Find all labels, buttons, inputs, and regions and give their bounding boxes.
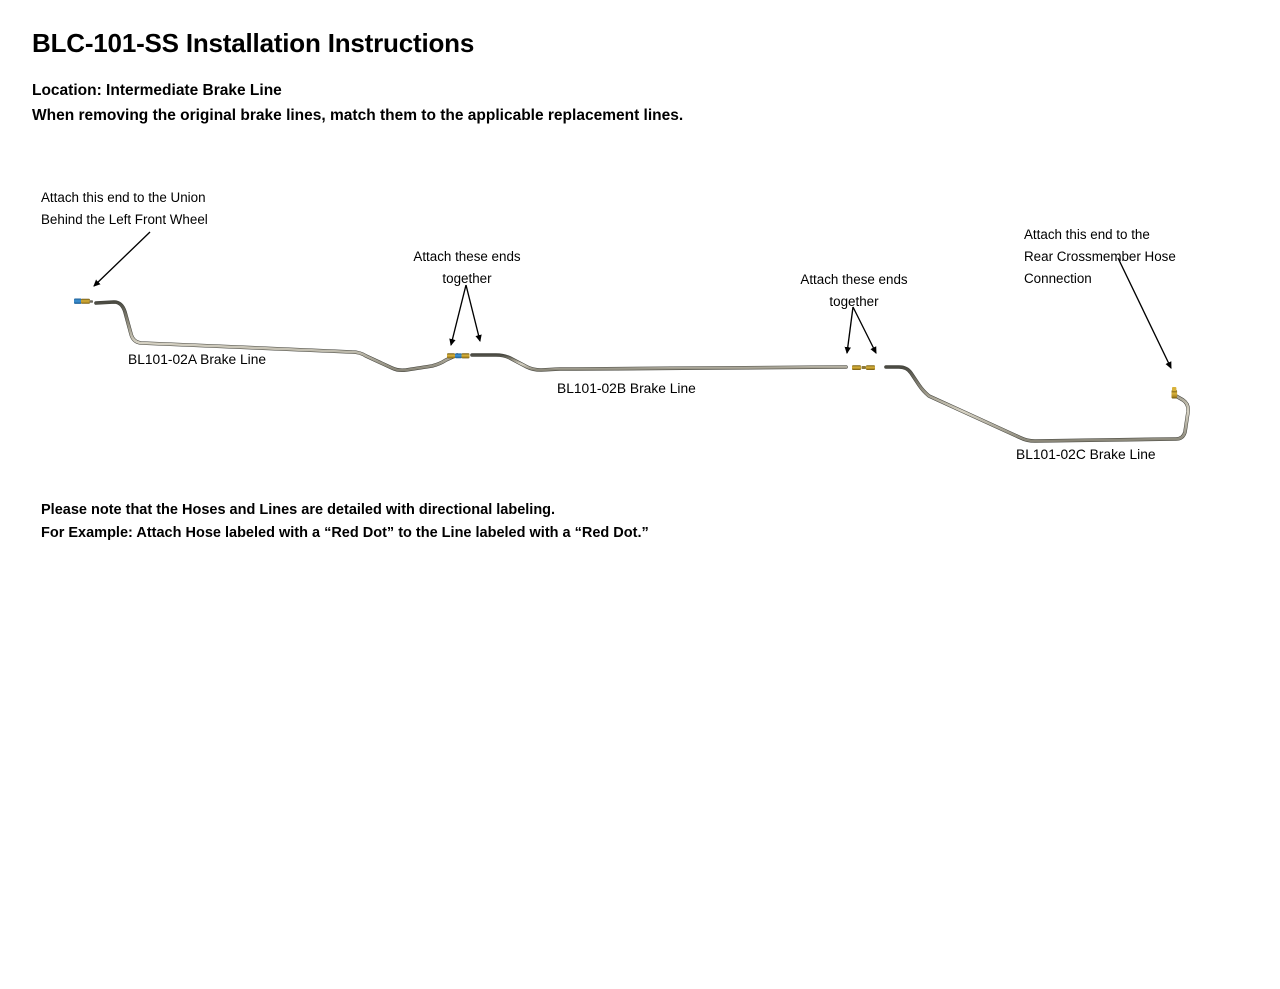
- annotation-left-union-line-1: Attach this end to the Union: [41, 190, 206, 205]
- center-join-fitting-blue: [455, 353, 462, 358]
- center-join-fitting-right: [462, 353, 470, 358]
- note-red-dot-example: For Example: Attach Hose labeled with a …: [41, 525, 649, 541]
- annotation-rear-join-line-1: Attach these ends: [800, 272, 908, 287]
- annotation-labels: Attach this end to the Union Behind the …: [41, 190, 1176, 309]
- annotation-center-join-line-1: Attach these ends: [413, 249, 521, 264]
- part-label-bl101-02a: BL101-02A Brake Line: [128, 352, 266, 367]
- arrow-center-join-left: [451, 285, 466, 345]
- brake-line-c-tube: [886, 367, 1188, 441]
- rear-join-fitting-right: [866, 365, 875, 370]
- note-directional-labeling: Please note that the Hoses and Lines are…: [41, 502, 555, 518]
- annotation-left-union-line-2: Behind the Left Front Wheel: [41, 212, 208, 227]
- tube-c-shadow: [886, 367, 1188, 441]
- rear-crossmember-fitting: [1172, 387, 1178, 399]
- brake-line-tubes: [96, 302, 1188, 441]
- part-label-bl101-02b: BL101-02B Brake Line: [557, 381, 696, 396]
- annotation-center-join-line-2: together: [442, 271, 492, 286]
- arrow-rear-join-left: [847, 307, 853, 353]
- arrow-rear-crossmember: [1118, 258, 1171, 368]
- arrow-center-join-right: [466, 285, 480, 341]
- rear-join-fitting-left: [852, 365, 861, 370]
- left-union-fitting: [74, 299, 93, 304]
- annotation-rear-crossmember-line-2: Rear Crossmember Hose: [1024, 249, 1176, 264]
- brake-line-diagram: Attach this end to the Union Behind the …: [0, 0, 1280, 989]
- brake-line-b-tube: [472, 355, 846, 370]
- annotation-rear-crossmember-line-1: Attach this end to the: [1024, 227, 1150, 242]
- arrow-rear-join-right: [853, 307, 876, 353]
- annotation-rear-join-line-2: together: [829, 294, 879, 309]
- annotation-rear-crossmember-line-3: Connection: [1024, 271, 1092, 286]
- rear-join-fitting-center-stub: [862, 366, 867, 369]
- arrow-left-union: [94, 232, 150, 286]
- center-join-fitting-left: [447, 353, 455, 358]
- part-label-bl101-02c: BL101-02C Brake Line: [1016, 447, 1156, 462]
